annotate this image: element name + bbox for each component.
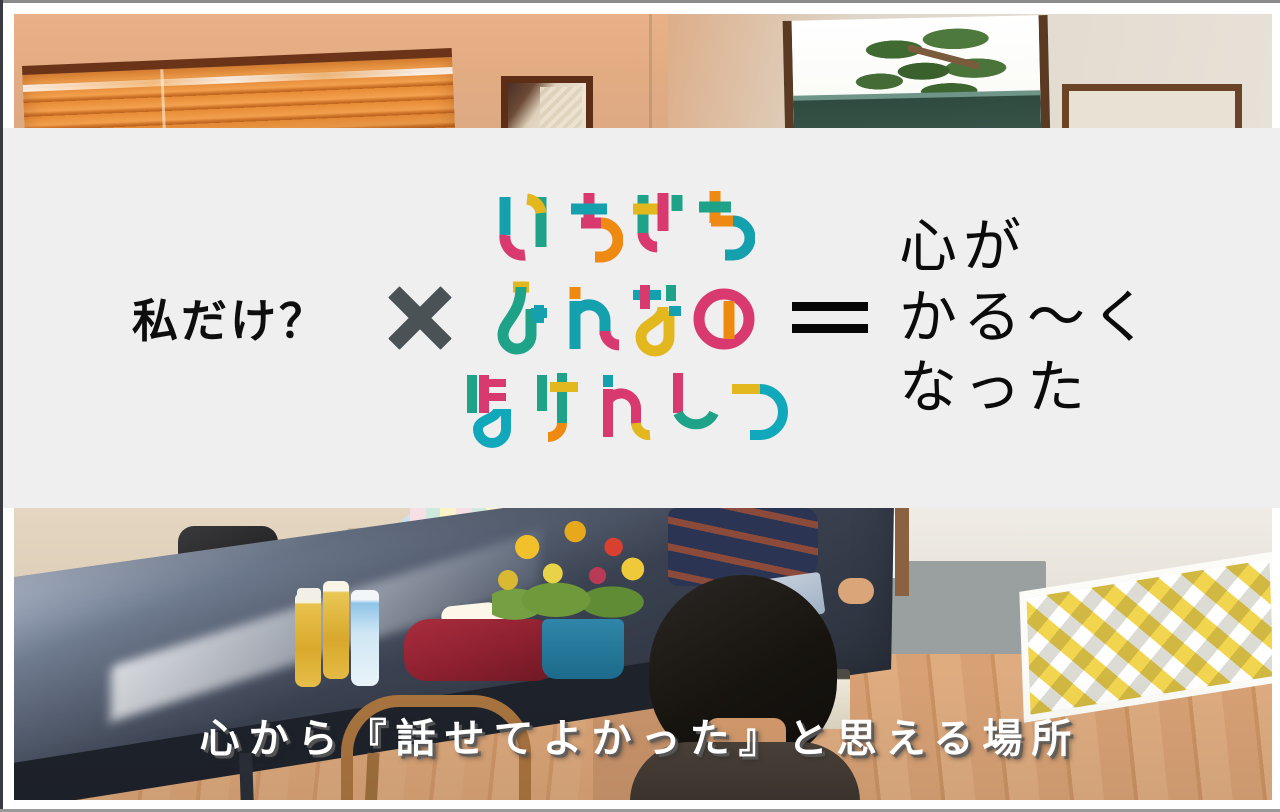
- logo-kana-no: [693, 279, 755, 361]
- logo-kana-chi: [561, 189, 623, 271]
- frame-edge-left: [0, 0, 3, 812]
- result-text: 心が かる〜く なった: [885, 212, 1215, 424]
- logo-kana-mi: [495, 279, 557, 361]
- result-line-3: なった: [899, 353, 1215, 424]
- equation-row: 私だけ？: [0, 128, 1280, 508]
- logo-kana-tsu: [726, 369, 788, 451]
- logo-kana-i: [495, 189, 557, 271]
- blind-highlight: [23, 67, 453, 92]
- logo-kana-wa: [693, 189, 755, 271]
- equals-symbol-wrap: [775, 298, 885, 338]
- right-door-frame: [1062, 84, 1242, 132]
- logo-kana-ka: [627, 189, 689, 271]
- question-text: 私だけ？: [65, 285, 365, 351]
- equals-icon: [792, 298, 868, 338]
- frame-edge-top: [0, 0, 1280, 3]
- logo-kana-n: [561, 279, 623, 361]
- logo-kana-shi: [660, 369, 722, 451]
- logo-row-1: [495, 185, 755, 271]
- logo-kana-n2: [594, 369, 656, 451]
- logo-row-3: [462, 365, 788, 451]
- top-photo-wall-corner: [649, 14, 652, 132]
- promo-banner: 私だけ？: [0, 0, 1280, 812]
- result-line-1: 心が: [899, 212, 1215, 283]
- message-panel: 私だけ？: [0, 128, 1280, 508]
- garden-window: [783, 15, 1051, 132]
- interior-door: [501, 76, 593, 132]
- multiply-symbol-wrap: [365, 286, 475, 350]
- top-room-photo: [14, 14, 1272, 132]
- result-line-2: かる〜く: [899, 283, 1215, 354]
- door-frosted-glass: [540, 87, 582, 132]
- logo-kana-ho: [462, 369, 524, 451]
- logo-kana-na: [627, 279, 689, 361]
- multiply-icon: [388, 286, 452, 350]
- organization-logo: [475, 185, 775, 451]
- bottom-caption: 心から『話せてよかった』と思える場所: [0, 706, 1280, 764]
- logo-row-2: [495, 275, 755, 361]
- logo-kana-ke: [528, 369, 590, 451]
